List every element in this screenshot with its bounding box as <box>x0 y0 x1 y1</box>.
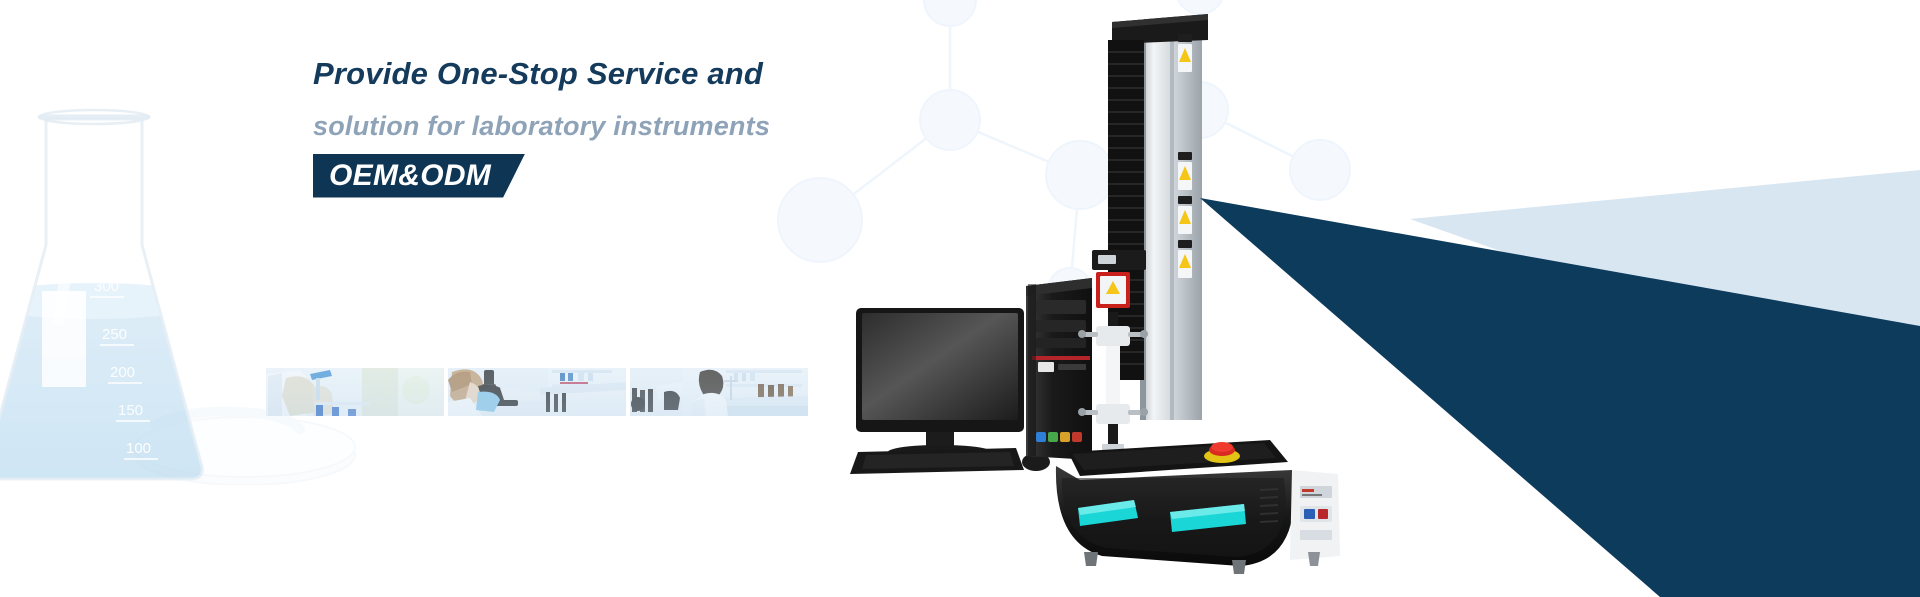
photo-lab-bench <box>630 368 808 416</box>
keyboard-icon <box>850 448 1024 474</box>
hardware-group <box>840 0 1480 597</box>
desktop-monitor-icon <box>856 308 1024 459</box>
universal-testing-machine-icon <box>1056 14 1340 574</box>
svg-text:100: 100 <box>126 440 151 457</box>
svg-text:250: 250 <box>102 326 127 343</box>
promo-banner: 300 250 200 150 100 mL Provide One-Stop … <box>0 0 1920 597</box>
svg-text:mL: mL <box>62 296 82 312</box>
svg-text:150: 150 <box>118 402 143 419</box>
svg-text:300: 300 <box>94 278 119 295</box>
photo-microscope <box>448 368 626 416</box>
pc-tower-icon <box>1026 278 1092 460</box>
petri-dish-icon <box>135 412 355 486</box>
warning-label-icon <box>1178 34 1192 278</box>
svg-text:200: 200 <box>110 364 135 381</box>
photo-pipetting <box>266 368 444 416</box>
oem-odm-badge: OEM&ODM <box>313 154 525 198</box>
triangle-light <box>1410 170 1920 400</box>
lab-photo-strip <box>266 368 808 416</box>
